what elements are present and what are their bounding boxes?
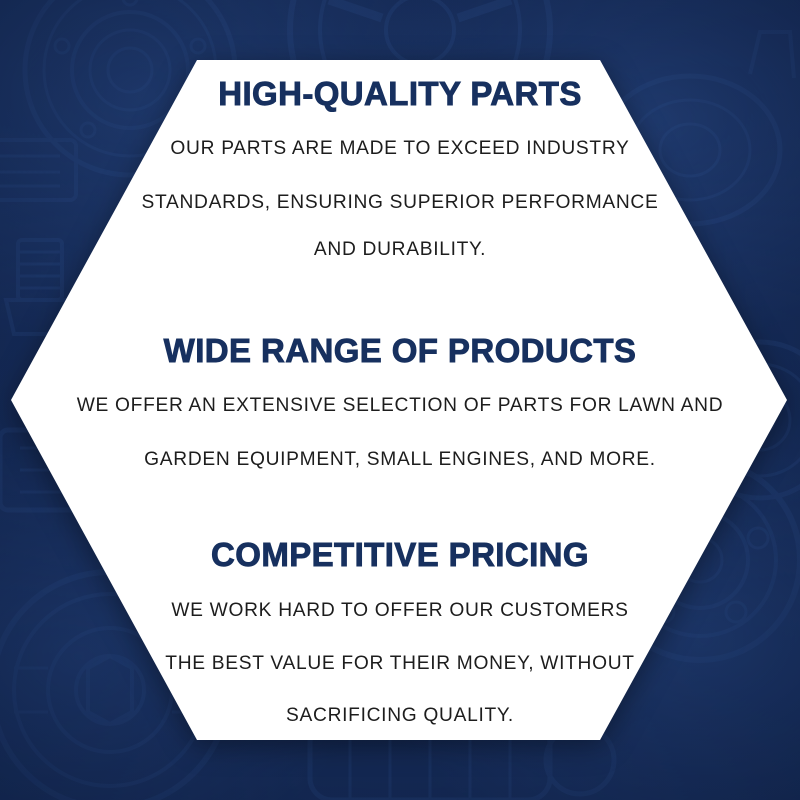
- section-1-line-2: STANDARDS, ENSURING SUPERIOR PERFORMANCE: [0, 193, 800, 212]
- body-text-line: WE WORK HARD TO OFFER OUR CUSTOMERS: [0, 601, 800, 620]
- body-text-line: WE OFFER AN EXTENSIVE SELECTION OF PARTS…: [0, 396, 800, 415]
- section-competitive-pricing: COMPETITIVE PRICING: [0, 538, 800, 571]
- section-3-line-2: THE BEST VALUE FOR THEIR MONEY, WITHOUT: [0, 654, 800, 673]
- body-text-line: SACRIFICING QUALITY.: [0, 706, 800, 725]
- body-text-line: AND DURABILITY.: [0, 240, 800, 259]
- body-text-line: THE BEST VALUE FOR THEIR MONEY, WITHOUT: [0, 654, 800, 673]
- section-2-line-1: WE OFFER AN EXTENSIVE SELECTION OF PARTS…: [0, 396, 800, 415]
- body-text-line: OUR PARTS ARE MADE TO EXCEED INDUSTRY: [0, 139, 800, 158]
- section-3-line-3: SACRIFICING QUALITY.: [0, 706, 800, 725]
- section-2-line-2: GARDEN EQUIPMENT, SMALL ENGINES, AND MOR…: [0, 450, 800, 469]
- body-text-line: STANDARDS, ENSURING SUPERIOR PERFORMANCE: [0, 193, 800, 212]
- section-heading-high-quality-parts: HIGH-QUALITY PARTS: [0, 77, 800, 110]
- section-3-line-1: WE WORK HARD TO OFFER OUR CUSTOMERS: [0, 601, 800, 620]
- promo-graphic-canvas: HIGH-QUALITY PARTS OUR PARTS ARE MADE TO…: [0, 0, 800, 800]
- section-heading-wide-range-of-products: WIDE RANGE OF PRODUCTS: [0, 334, 800, 367]
- section-1-line-1: OUR PARTS ARE MADE TO EXCEED INDUSTRY: [0, 139, 800, 158]
- body-text-line: GARDEN EQUIPMENT, SMALL ENGINES, AND MOR…: [0, 450, 800, 469]
- section-high-quality-parts: HIGH-QUALITY PARTS: [0, 77, 800, 110]
- panel-content: HIGH-QUALITY PARTS OUR PARTS ARE MADE TO…: [0, 0, 800, 800]
- section-1-line-3: AND DURABILITY.: [0, 240, 800, 259]
- section-wide-range-of-products: WIDE RANGE OF PRODUCTS: [0, 334, 800, 367]
- section-heading-competitive-pricing: COMPETITIVE PRICING: [0, 538, 800, 571]
